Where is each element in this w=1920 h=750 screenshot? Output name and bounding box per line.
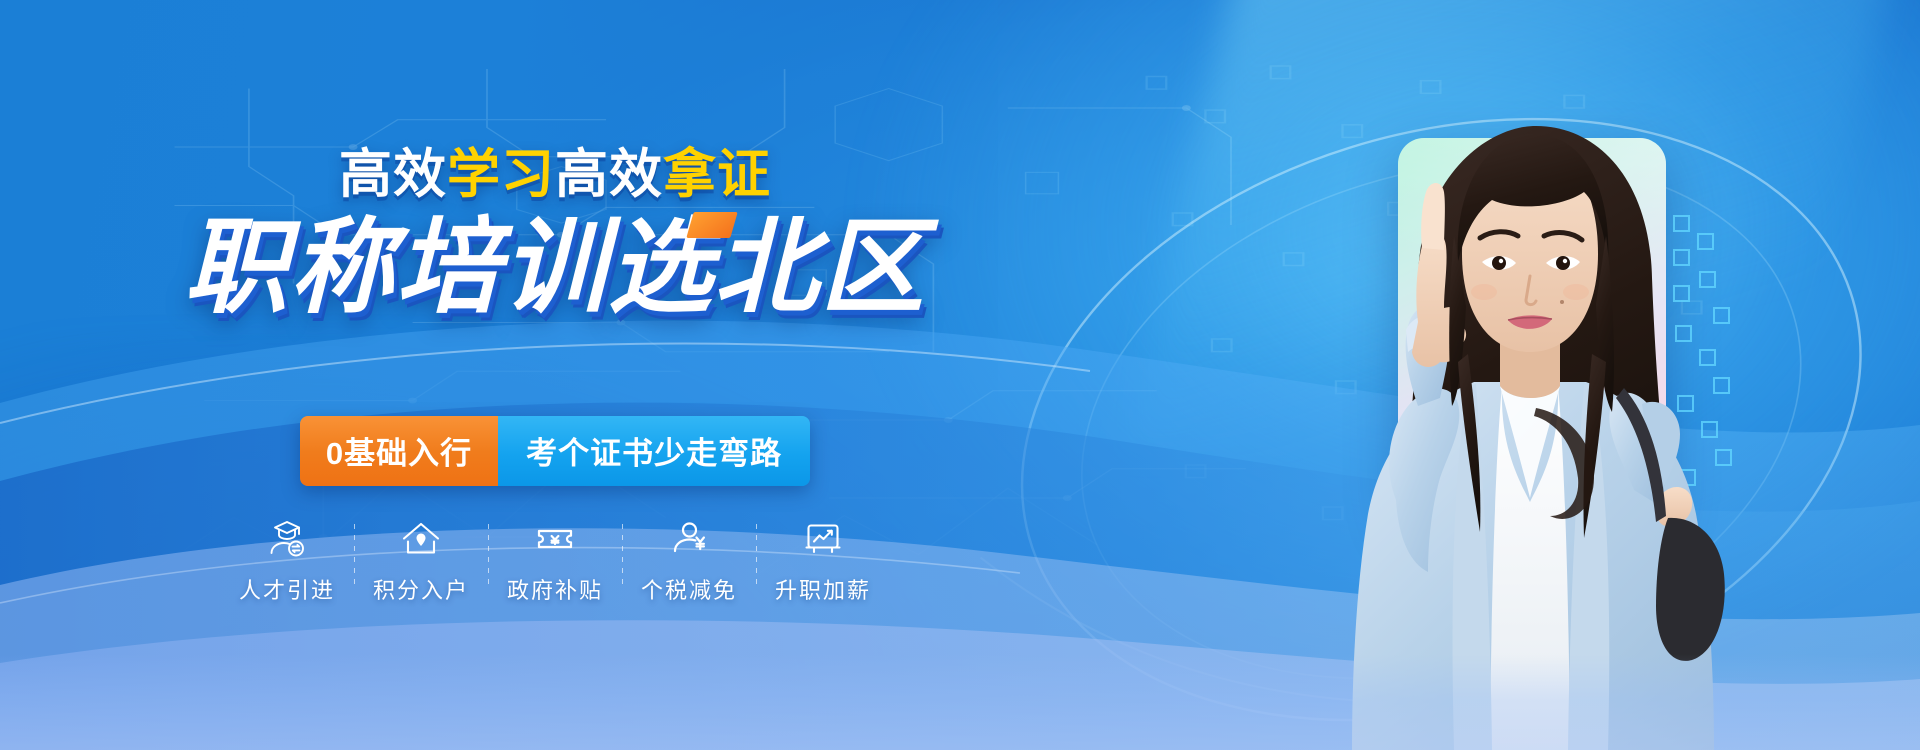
feature-item-government-subsidy[interactable]: 政府补贴 [489,518,622,605]
kicker-seg-0: 高效 [339,145,447,204]
kicker-line: 高效学习高效拿证 [0,148,1110,201]
kicker-seg-3: 拿证 [663,145,771,204]
home-pin-icon [400,518,442,560]
kicker-seg-2: 高效 [555,145,663,204]
feature-label: 个税减免 [641,573,737,605]
hero-person-composite [1100,0,1920,750]
orange-accent-mark-icon [686,212,737,238]
feature-label: 人才引进 [239,573,335,605]
chart-board-icon [802,518,844,560]
banner-content: 高效学习高效拿证 职称培训选北区 0基础入行 考个证书少走弯路 [0,0,1150,750]
feature-item-tax-reduction[interactable]: 个税减免 [623,518,756,605]
headline-text: 职称培训选北区 [184,210,926,326]
badge-left-label: 0基础入行 [300,416,498,486]
feature-item-talent-introduction[interactable]: 人才引进 [221,518,354,605]
ticket-yuan-icon [534,518,576,560]
badge-right-label: 考个证书少走弯路 [498,416,810,486]
feature-item-points-residency[interactable]: 积分入户 [355,518,488,605]
woman-photo [1268,86,1788,750]
feature-item-promotion-raise[interactable]: 升职加薪 [757,518,890,605]
feature-label: 升职加薪 [775,573,871,605]
page-title: 职称培训选北区 [0,216,1110,320]
graduate-person-icon [266,518,308,560]
feature-label: 积分入户 [373,573,469,605]
kicker-seg-1: 学习 [447,145,555,204]
feature-label: 政府补贴 [507,573,603,605]
person-yuan-icon [668,518,710,560]
tagline-badge: 0基础入行 考个证书少走弯路 [0,416,1110,486]
promo-banner: 高效学习高效拿证 职称培训选北区 0基础入行 考个证书少走弯路 [0,0,1920,750]
feature-list: 人才引进 积分入户 [0,518,1110,605]
